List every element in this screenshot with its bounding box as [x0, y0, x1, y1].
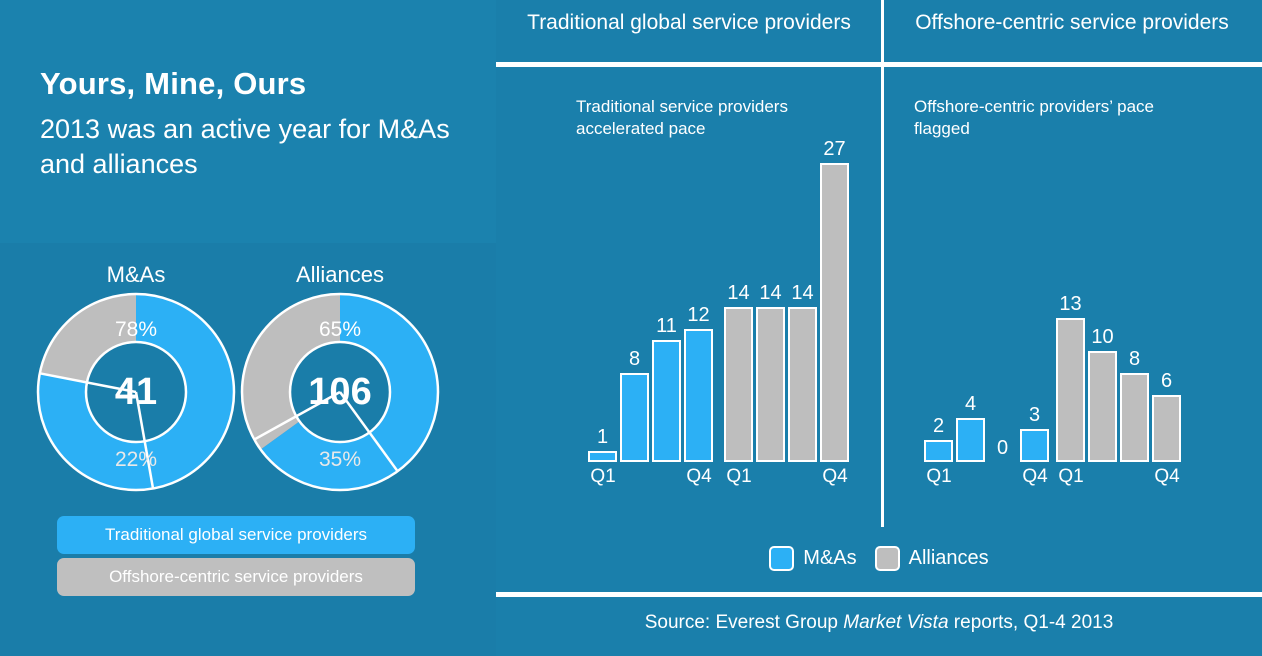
donut-title-mas: M&As: [36, 262, 236, 288]
donut-center-value-alliances: 106: [240, 292, 440, 492]
bar-rect: [820, 163, 849, 462]
bar-slot: 8: [1120, 150, 1149, 462]
bar-slot: 10: [1088, 150, 1117, 462]
panel-header-traditional-line1: Traditional global service providers: [527, 11, 851, 34]
bar-slot: 4: [956, 150, 985, 462]
legend-pill-offshore: Offshore-centric service providers: [57, 558, 415, 596]
x-tick-q4-alliances-traditional: Q4: [805, 466, 865, 488]
panel-vertical-divider: [881, 67, 884, 527]
bar-rect: [620, 373, 649, 462]
legend-pill-offshore-label: Offshore-centric service providers: [109, 567, 363, 587]
bar-slot: 1: [588, 150, 617, 462]
x-tick-q1-mas-offshore: Q1: [909, 466, 969, 488]
panel-header-offshore-line1: Offshore-centric service providers: [915, 11, 1229, 34]
chart-legend: M&As Alliances: [496, 546, 1262, 571]
bar-value: 27: [805, 138, 865, 161]
bar-slot: 13: [1056, 150, 1085, 462]
x-tick-q4-alliances-offshore: Q4: [1137, 466, 1197, 488]
legend-item-mas: M&As: [769, 546, 856, 571]
bar-rect: [652, 340, 681, 462]
x-tick-q1-alliances-offshore: Q1: [1041, 466, 1101, 488]
bar-series-alliances-offshore: 13 10 8 6: [1056, 150, 1181, 462]
source-note: Source: Everest Group Market Vista repor…: [496, 612, 1262, 634]
bar-chart-traditional: 1 8 11 12 14: [516, 150, 876, 490]
bar-series-mas-traditional: 1 8 11 12: [588, 150, 713, 462]
bar-slot: 14: [756, 150, 785, 462]
bar-value: 6: [1137, 370, 1197, 393]
panel-header-offshore: Offshore-centric service providers: [882, 10, 1262, 36]
source-prefix: Source: Everest Group: [645, 612, 844, 633]
bar-rect: [924, 440, 953, 462]
donut-center-value-mas: 41: [36, 292, 236, 492]
bar-slot: 8: [620, 150, 649, 462]
legend-label-mas: M&As: [803, 547, 856, 570]
source-suffix: reports, Q1-4 2013: [949, 612, 1114, 633]
bar-slot: 14: [788, 150, 817, 462]
bar-slot: 27: [820, 150, 849, 462]
bar-value: 12: [669, 304, 729, 327]
bar-slot: 12: [684, 150, 713, 462]
footer-horizontal-rule: [496, 592, 1262, 597]
right-panel: Traditional global service providers Off…: [496, 0, 1262, 656]
page-subtitle: 2013 was an active year for M&As and all…: [40, 112, 470, 181]
header-horizontal-rule: [496, 62, 1262, 67]
legend-item-alliances: Alliances: [875, 546, 989, 571]
donut-graphic-alliances: 65% 35% 106: [240, 292, 440, 492]
header-vertical-divider: [881, 0, 884, 62]
infographic-root: Yours, Mine, Ours 2013 was an active yea…: [0, 0, 1262, 656]
donut-chart-alliances: Alliances 65% 35% 106: [240, 262, 440, 492]
bar-series-mas-offshore: 2 4 0 3: [924, 150, 1049, 462]
bar-slot: 14: [724, 150, 753, 462]
bar-rect: [1152, 395, 1181, 462]
source-italic: Market Vista: [843, 612, 948, 633]
donut-chart-mas: M&As 78% 22% 41: [36, 262, 236, 492]
x-tick-q1-alliances-traditional: Q1: [709, 466, 769, 488]
bar-rect: [588, 451, 617, 462]
bar-rect: [724, 307, 753, 462]
left-column: Yours, Mine, Ours 2013 was an active yea…: [0, 0, 496, 656]
bar-rect: [788, 307, 817, 462]
panel-subtitle-offshore: Offshore-centric providers’ pace flagged: [914, 96, 1214, 141]
donut-graphic-mas: 78% 22% 41: [36, 292, 236, 492]
x-tick-q1-mas-traditional: Q1: [573, 466, 633, 488]
legend-pill-traditional: Traditional global service providers: [57, 516, 415, 554]
panel-header-traditional: Traditional global service providers: [496, 10, 882, 36]
bar-series-alliances-traditional: 14 14 14 27: [724, 150, 849, 462]
panel-subtitle-traditional: Traditional service providers accelerate…: [576, 96, 876, 141]
donut-title-alliances: Alliances: [240, 262, 440, 288]
bar-rect: [1020, 429, 1049, 462]
bar-rect: [756, 307, 785, 462]
legend-label-alliances: Alliances: [909, 547, 989, 570]
legend-pill-traditional-label: Traditional global service providers: [105, 525, 367, 545]
bar-chart-offshore: 2 4 0 3 13: [896, 150, 1256, 490]
bar-slot: 6: [1152, 150, 1181, 462]
bar-rect: [684, 329, 713, 462]
legend-swatch-alliances-icon: [875, 546, 900, 571]
page-title: Yours, Mine, Ours: [40, 66, 306, 102]
legend-swatch-mas-icon: [769, 546, 794, 571]
